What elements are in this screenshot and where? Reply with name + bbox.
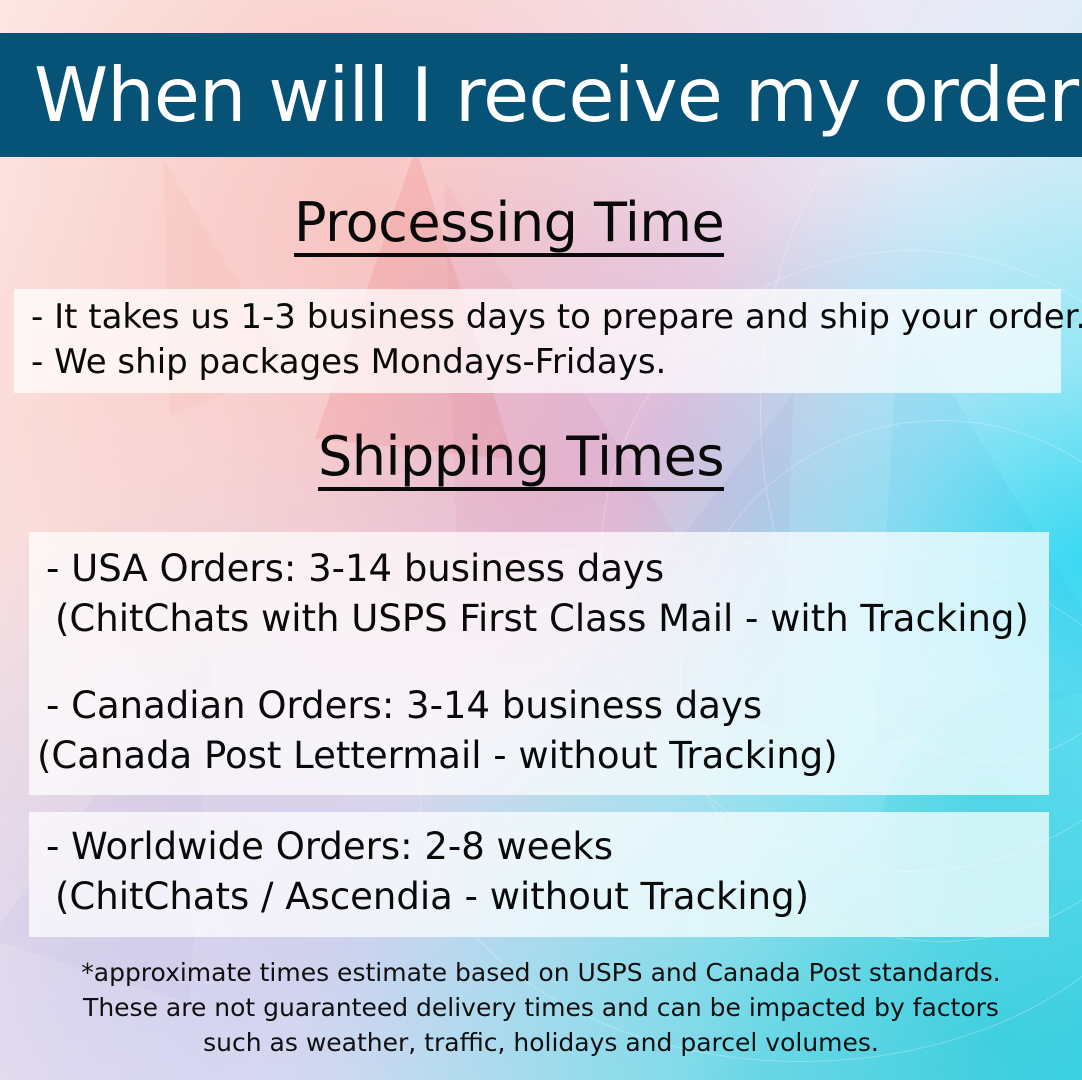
footnote-line-2: These are not guaranteed delivery times …: [0, 990, 1082, 1025]
section-heading-processing-time: Processing Time: [294, 196, 724, 257]
section-heading-shipping-times: Shipping Times: [318, 430, 724, 491]
header-banner: When will I receive my order?: [0, 33, 1082, 157]
processing-line-1: - It takes us 1-3 business days to prepa…: [14, 295, 1061, 340]
shipping-canada-detail: (Canada Post Lettermail - without Tracki…: [37, 731, 1049, 781]
shipping-times-panel: - USA Orders: 3-14 business days (ChitCh…: [29, 532, 1049, 795]
footnote-line-3: such as weather, traffic, holidays and p…: [0, 1025, 1082, 1060]
shipping-usa-detail: (ChitChats with USPS First Class Mail - …: [37, 594, 1049, 644]
shipping-usa-title: - USA Orders: 3-14 business days: [37, 544, 1049, 594]
disclaimer-footnote: *approximate times estimate based on USP…: [0, 955, 1082, 1060]
processing-line-2: - We ship packages Mondays-Fridays.: [14, 340, 1061, 385]
processing-time-panel: - It takes us 1-3 business days to prepa…: [14, 289, 1061, 393]
shipping-worldwide-title: - Worldwide Orders: 2-8 weeks: [37, 822, 1049, 872]
shipping-block-canada: - Canadian Orders: 3-14 business days (C…: [29, 681, 1049, 782]
shipping-canada-title: - Canadian Orders: 3-14 business days: [37, 681, 1049, 731]
shipping-block-usa: - USA Orders: 3-14 business days (ChitCh…: [29, 544, 1049, 645]
shipping-worldwide-detail: (ChitChats / Ascendia - without Tracking…: [37, 872, 1049, 922]
page-title: When will I receive my order?: [34, 58, 1082, 133]
worldwide-shipping-panel: - Worldwide Orders: 2-8 weeks (ChitChats…: [29, 812, 1049, 937]
shipping-block-worldwide: - Worldwide Orders: 2-8 weeks (ChitChats…: [29, 822, 1049, 923]
shipping-info-poster: When will I receive my order? Processing…: [0, 0, 1082, 1080]
footnote-line-1: *approximate times estimate based on USP…: [0, 955, 1082, 990]
